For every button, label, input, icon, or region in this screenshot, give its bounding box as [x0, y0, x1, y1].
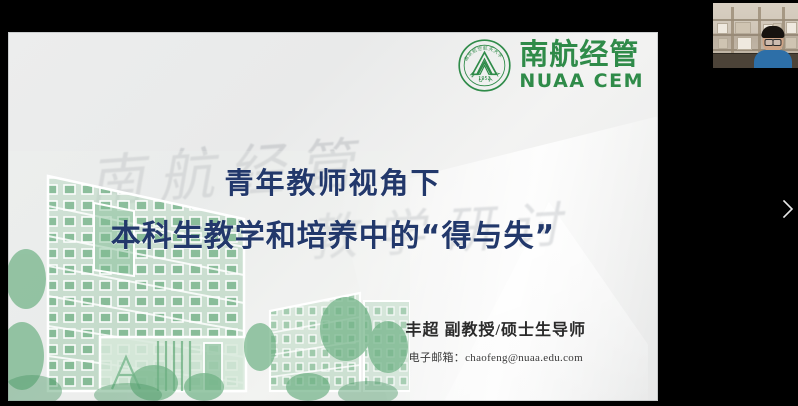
- presentation-slide[interactable]: 南航经管 教学研讨: [8, 32, 658, 401]
- logo-wordmark-cn: 南航经管: [519, 41, 639, 70]
- nuaa-cem-logo: 1952 N U A A 南京航空航天大学 南航经管 NUAA CEM: [457, 38, 644, 93]
- participant-torso: [754, 50, 792, 68]
- eyeglasses-right-icon: [772, 39, 781, 46]
- shelf-object: [737, 37, 752, 50]
- participant-video-tile[interactable]: [713, 3, 798, 68]
- slide-title-line-2: 本科生教学和培养中的“得与失”: [8, 211, 658, 255]
- chevron-right-icon[interactable]: [782, 198, 794, 220]
- logo-wordmark: 南航经管 NUAA CEM: [519, 41, 644, 91]
- presenter-name: 丰超 副教授/硕士生导师: [406, 316, 586, 340]
- shelf-line: [713, 19, 798, 21]
- presenter-email: 电子邮箱：chaofeng@nuaa.edu.com: [406, 349, 586, 365]
- presenter-info: 丰超 副教授/硕士生导师 电子邮箱：chaofeng@nuaa.edu.com: [406, 316, 586, 365]
- participant-hair: [761, 26, 784, 38]
- shelf-object: [718, 38, 728, 49]
- shelf-object: [717, 23, 728, 34]
- slide-title-line-1: 青年教师视角下: [8, 160, 658, 202]
- logo-wordmark-en: NUAA CEM: [519, 72, 644, 91]
- nuaa-seal-icon: 1952 N U A A 南京航空航天大学: [457, 38, 512, 93]
- screen-share-stage: 南航经管 教学研讨: [0, 0, 798, 406]
- slide-title-block: 青年教师视角下 本科生教学和培养中的“得与失”: [8, 160, 658, 255]
- shelf-object: [735, 22, 751, 34]
- participant-figure: [753, 28, 793, 68]
